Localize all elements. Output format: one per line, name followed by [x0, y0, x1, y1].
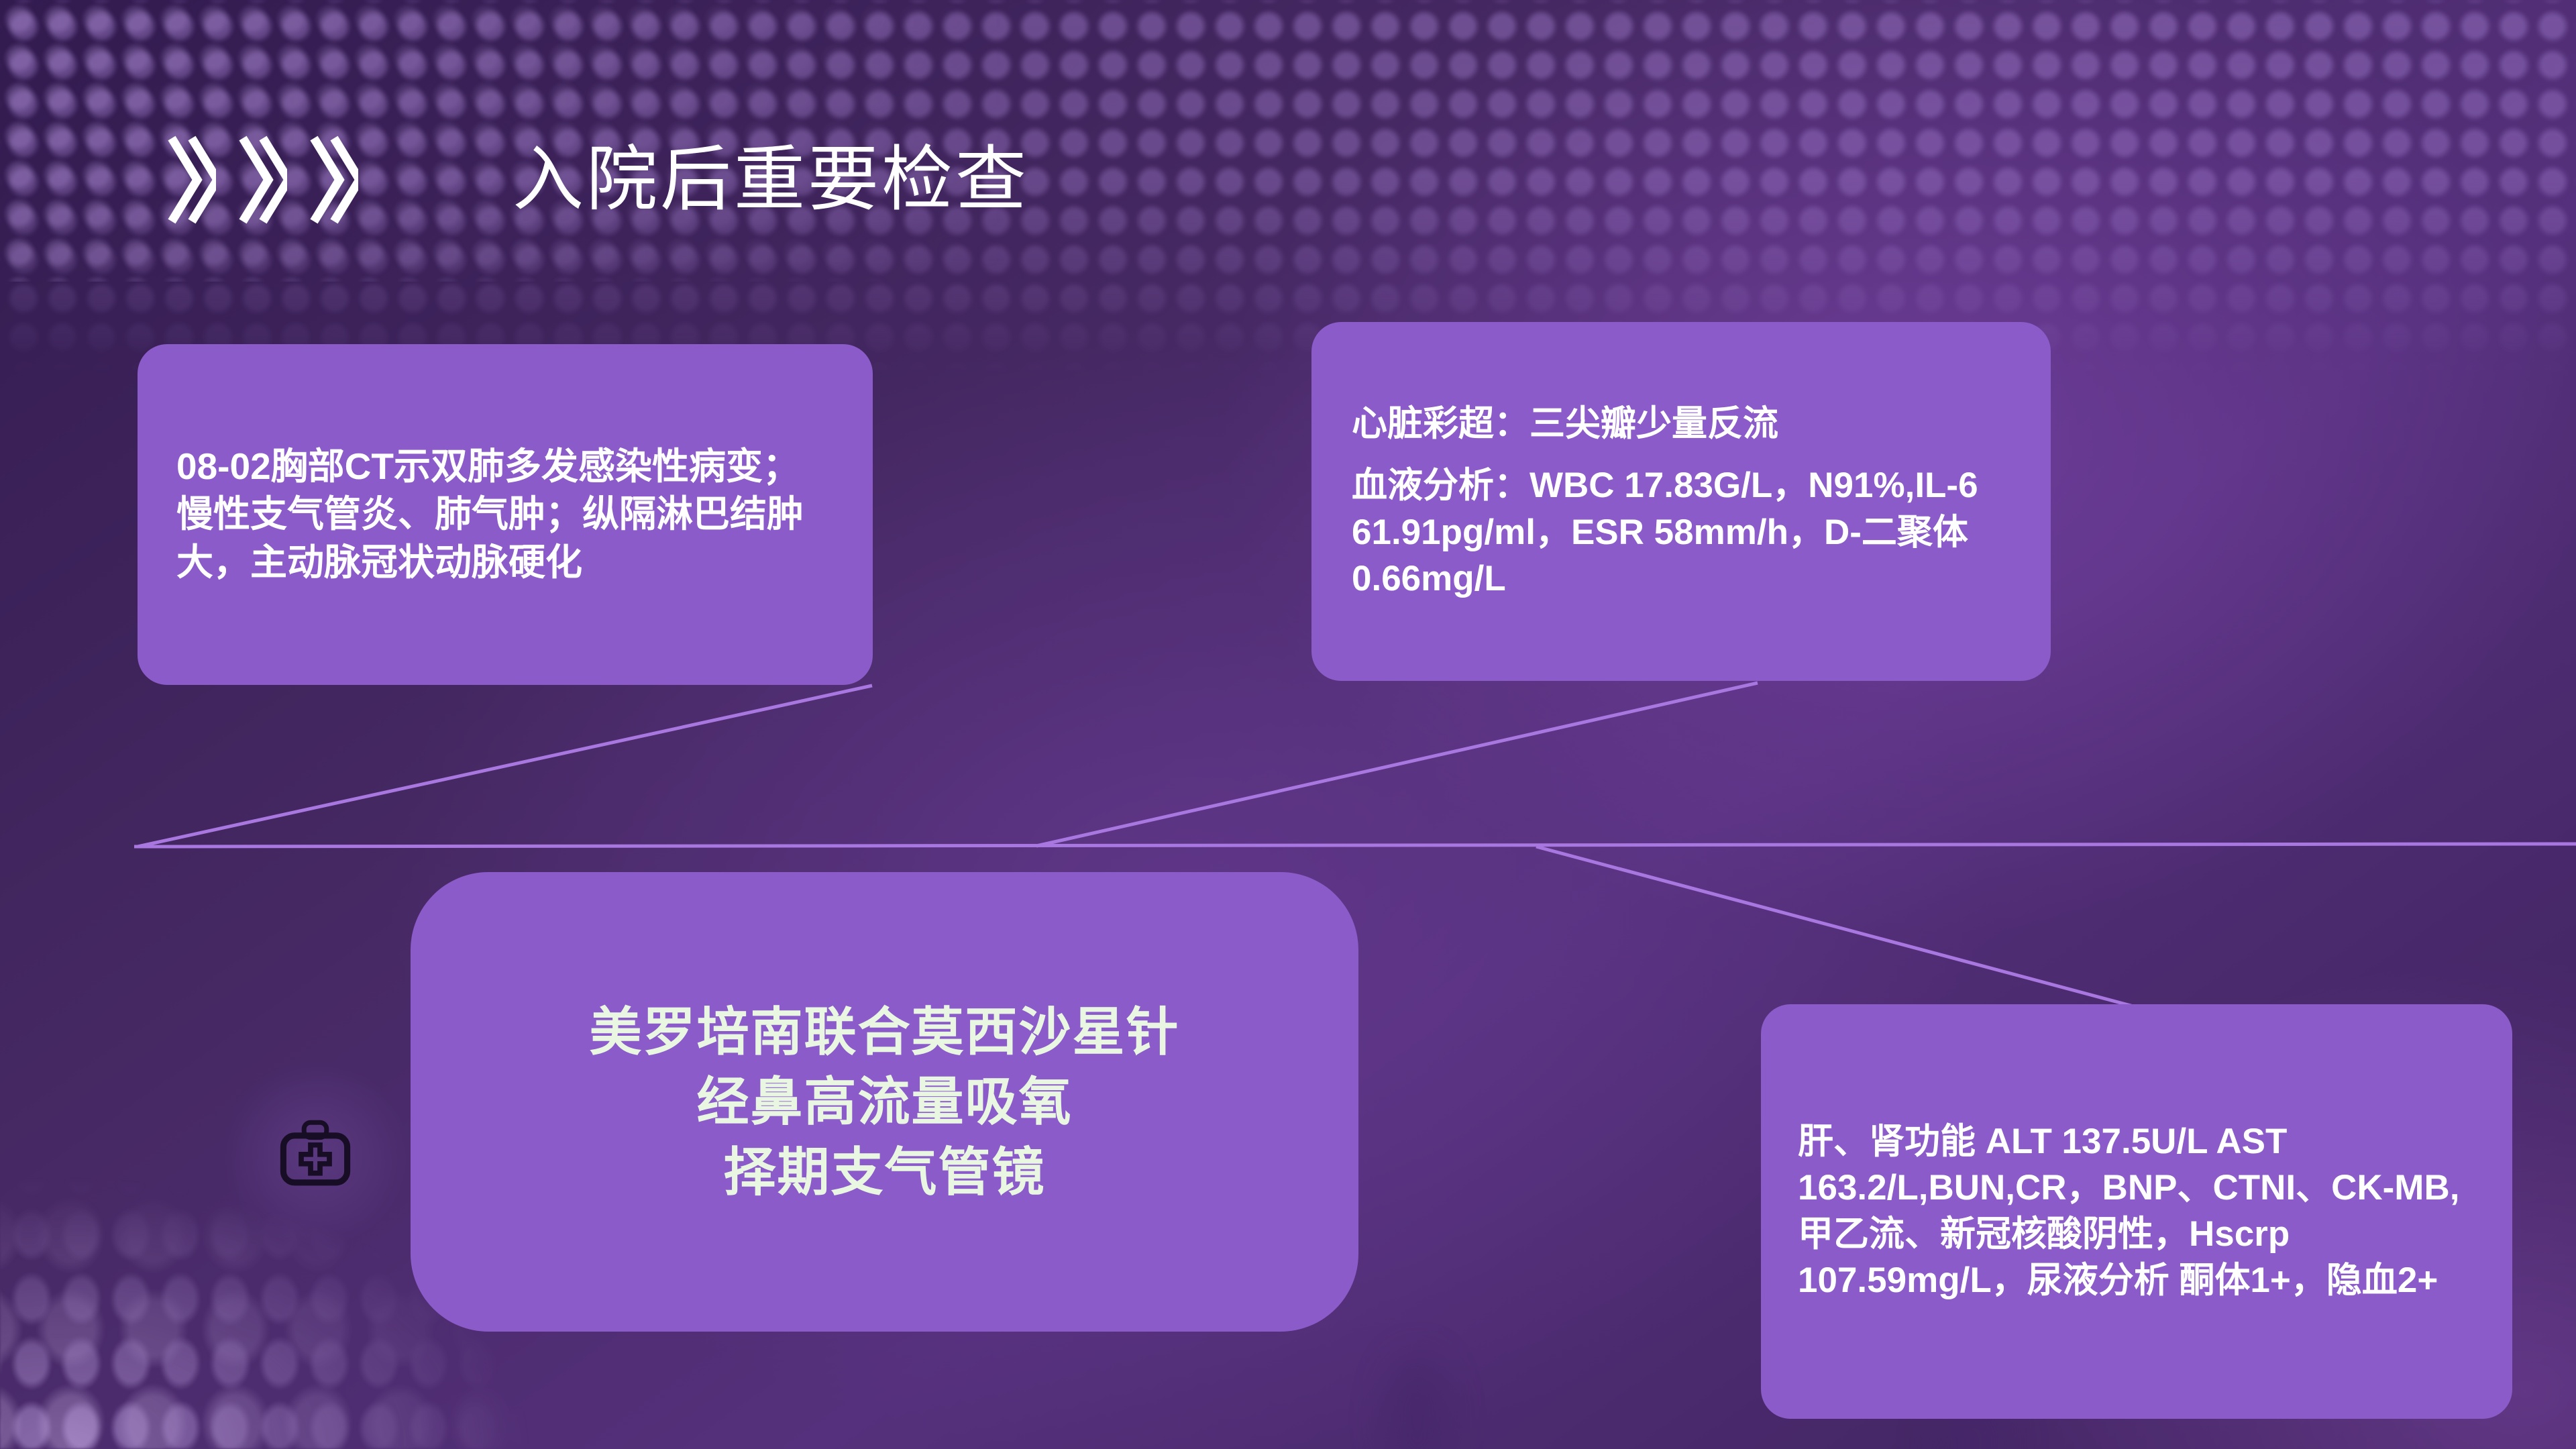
chevron-double-right-icon [168, 134, 216, 225]
card-echo-line2: 血液分析：WBC 17.83G/L，N91%,IL-6 61.91pg/ml，E… [1352, 462, 2010, 603]
chevron-double-right-icon [239, 134, 287, 225]
page-title-row: 入院后重要检查 [168, 134, 1029, 225]
card-chest-ct-text: 08-02胸部CT示双肺多发感染性病变；慢性支气管炎、肺气肿；纵隔淋巴结肿大，主… [176, 443, 834, 587]
connector-diagonal-labs [1536, 847, 2133, 1006]
card-echo-line1: 心脏彩超：三尖瓣少量反流 [1352, 400, 2010, 447]
medical-kit-icon [268, 1106, 362, 1199]
card-chest-ct[interactable]: 08-02胸部CT示双肺多发感染性病变；慢性支气管炎、肺气肿；纵隔淋巴结肿大，主… [138, 344, 873, 685]
chevron-marker-group [168, 134, 358, 225]
card-treatment-plan[interactable]: 美罗培南联合莫西沙星针 经鼻高流量吸氧 择期支气管镜 [411, 872, 1358, 1332]
card-lab-results-text: 肝、肾功能 ALT 137.5U/L AST 163.2/L,BUN,CR，BN… [1798, 1119, 2475, 1304]
slide-canvas: 入院后重要检查 08-02胸部CT示双肺多发感染性病变；慢性支气管炎、肺气肿；纵… [0, 0, 2576, 1449]
connector-diagonal-echo [1036, 683, 1758, 846]
card-echo-blood[interactable]: 心脏彩超：三尖瓣少量反流 血液分析：WBC 17.83G/L，N91%,IL-6… [1311, 322, 2051, 681]
card-plan-line3: 择期支气管镜 [723, 1137, 1045, 1207]
card-lab-results[interactable]: 肝、肾功能 ALT 137.5U/L AST 163.2/L,BUN,CR，BN… [1761, 1004, 2512, 1419]
chevron-double-right-icon [310, 134, 358, 225]
connector-horizontal-line [134, 844, 2576, 847]
page-title: 入院后重要检查 [513, 144, 1029, 215]
connector-diagonal-ct [138, 686, 872, 847]
card-plan-line1: 美罗培南联合莫西沙星针 [589, 997, 1179, 1067]
card-plan-line2: 经鼻高流量吸氧 [696, 1067, 1072, 1137]
